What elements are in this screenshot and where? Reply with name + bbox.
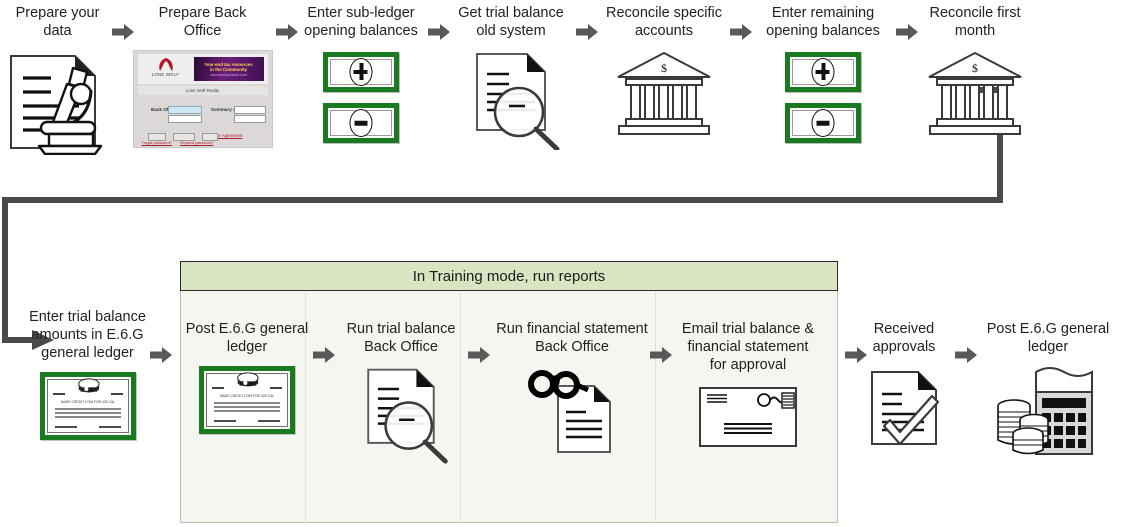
arrow-right-icon	[313, 347, 335, 363]
envelope-stamp-icon	[668, 386, 828, 453]
step-prepare-back-office[interactable]: Prepare Back Office LONE WOLF Year-end t…	[130, 4, 275, 148]
banknote-plus-minus-icon	[292, 52, 430, 143]
document-checkmark-icon	[854, 368, 954, 461]
step-email-for-approval[interactable]: Email trial balance & financial statemen…	[668, 320, 828, 453]
certificate-ledger-icon: MADE CREDIT COM FOR 425 CAL	[10, 372, 165, 440]
step-label: Enter sub-ledger opening balances	[292, 4, 430, 40]
step-label: Prepare your data	[0, 4, 115, 40]
panel-divider-3	[655, 291, 656, 523]
training-mode-header-label: In Training mode, run reports	[413, 268, 606, 285]
step-label: Email trial balance & financial statemen…	[668, 320, 828, 374]
svg-text:$: $	[972, 61, 978, 75]
step-label: Prepare Back Office	[130, 4, 275, 40]
arrow-right-icon	[468, 347, 490, 363]
step-label: Enter trial balance amounts in E.6.G gen…	[10, 308, 165, 362]
arrow-right-icon	[730, 24, 752, 40]
banknote-minus-icon	[323, 103, 399, 143]
back-office-section-title: Lone Wolf Realty	[186, 88, 219, 93]
document-magnifier-icon	[446, 50, 576, 155]
arrow-right-icon	[150, 347, 172, 363]
back-office-login-screenshot: LONE WOLF Year-end tax resources in the …	[133, 50, 273, 148]
back-office-banner-line3: community.lwolf.com	[210, 72, 247, 77]
calculator-coins-icon	[974, 366, 1122, 463]
training-mode-header: In Training mode, run reports	[180, 261, 838, 291]
banknote-plus-icon	[785, 52, 861, 92]
step-enter-sub-ledger-opening-balances[interactable]: Enter sub-ledger opening balances	[292, 4, 430, 143]
certificate-ledger-icon: MADE CREDIT COM FOR 425 CAL	[180, 366, 314, 434]
banknote-plus-minus-icon	[752, 52, 894, 143]
document-microscope-icon	[0, 50, 115, 160]
back-office-footer-link-2[interactable]: Request password?	[180, 141, 214, 145]
step-label: Run financial statement Back Office	[490, 320, 654, 356]
svg-text:$: $	[661, 61, 667, 75]
step-enter-trial-balance-amounts[interactable]: Enter trial balance amounts in E.6.G gen…	[10, 308, 165, 440]
back-office-brand: LONE WOLF	[152, 72, 179, 77]
step-prepare-your-data[interactable]: Prepare your data	[0, 4, 115, 160]
step-label: Run trial balance Back Office	[338, 320, 464, 356]
step-label: Reconcile specific accounts	[592, 4, 736, 40]
step-received-approvals[interactable]: Received approvals	[854, 320, 954, 461]
step-label: Received approvals	[854, 320, 954, 356]
step-get-trial-balance-old-system[interactable]: Get trial balance old system	[446, 4, 576, 155]
step-post-ledger-final[interactable]: Post E.6.G general ledger	[974, 320, 1122, 463]
step-post-ledger-training[interactable]: Post E.6.G general ledger MADE CREDIT CO…	[180, 320, 314, 434]
bank-building-icon: $	[918, 50, 1032, 141]
svg-text:MADE CREDIT COM FOR 425 CAL: MADE CREDIT COM FOR 425 CAL	[220, 394, 275, 398]
svg-text:MADE CREDIT COM FOR 425 CAL: MADE CREDIT COM FOR 425 CAL	[60, 400, 115, 404]
glasses-document-icon	[490, 364, 654, 465]
step-label: Get trial balance old system	[446, 4, 576, 40]
step-label: Post E.6.G general ledger	[974, 320, 1122, 356]
bank-building-icon: $	[592, 50, 736, 141]
step-run-financial-statement-back-office[interactable]: Run financial statement Back Office	[490, 320, 654, 465]
diagram-canvas: In Training mode, run reports Prepare yo…	[0, 0, 1122, 527]
step-label: Enter remaining opening balances	[752, 4, 894, 40]
banknote-minus-icon	[785, 103, 861, 143]
step-label: Reconcile first month	[918, 4, 1032, 40]
step-reconcile-specific-accounts[interactable]: Reconcile specific accounts $	[592, 4, 736, 141]
arrow-right-icon	[896, 24, 918, 40]
step-run-trial-balance-back-office[interactable]: Run trial balance Back Office	[338, 320, 464, 469]
step-reconcile-first-month[interactable]: Reconcile first month $	[918, 4, 1032, 141]
step-enter-remaining-opening-balances[interactable]: Enter remaining opening balances	[752, 4, 894, 143]
back-office-footer-link-1[interactable]: Forgot password?	[142, 141, 172, 145]
banknote-plus-icon	[323, 52, 399, 92]
step-label: Post E.6.G general ledger	[180, 320, 314, 356]
document-magnifier-icon	[338, 364, 464, 469]
